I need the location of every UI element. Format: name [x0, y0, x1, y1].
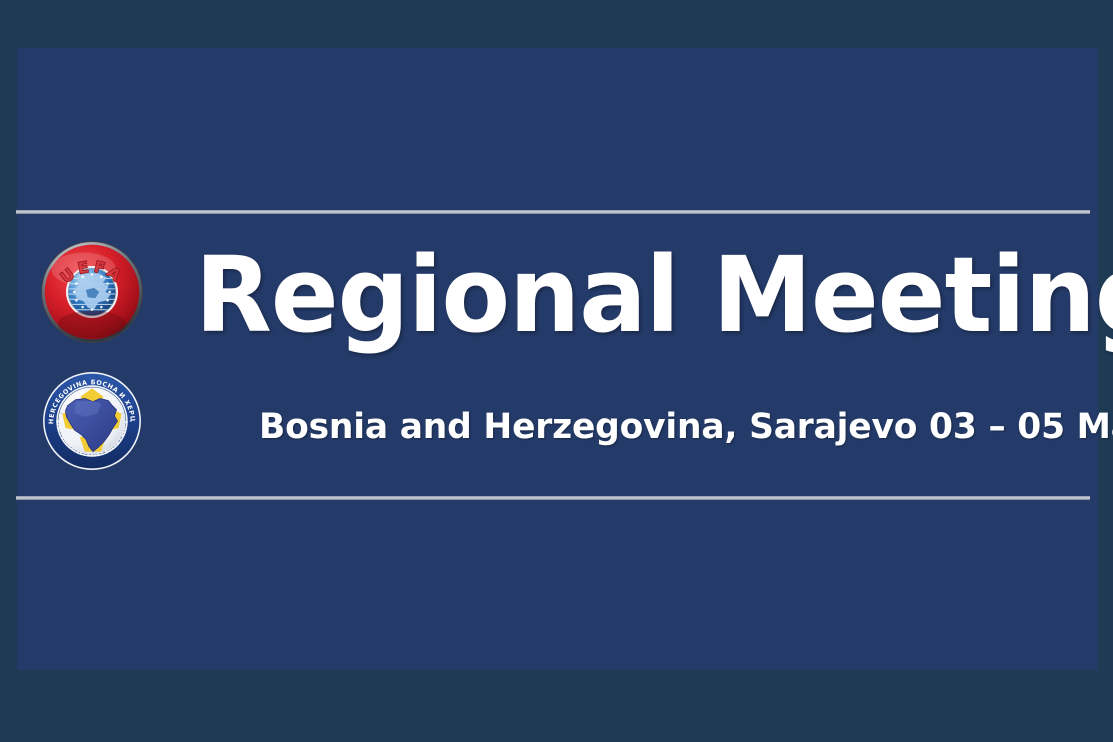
- slide-frame: UEFA UEFA: [0, 0, 1113, 742]
- page-subtitle: Bosnia and Herzegovina, Sarajevo 03 – 05…: [259, 408, 1086, 447]
- divider-bottom: [16, 496, 1090, 500]
- slide-panel: [17, 48, 1098, 670]
- uefa-logo: UEFA UEFA: [40, 240, 144, 344]
- page-title: Regional Meeting: [195, 243, 1059, 347]
- divider-top: [16, 210, 1090, 214]
- bih-football-federation-logo: BOSNA I HERCEGOVINA БОСНА И ХЕРЦЕГОВИНА …: [33, 370, 151, 472]
